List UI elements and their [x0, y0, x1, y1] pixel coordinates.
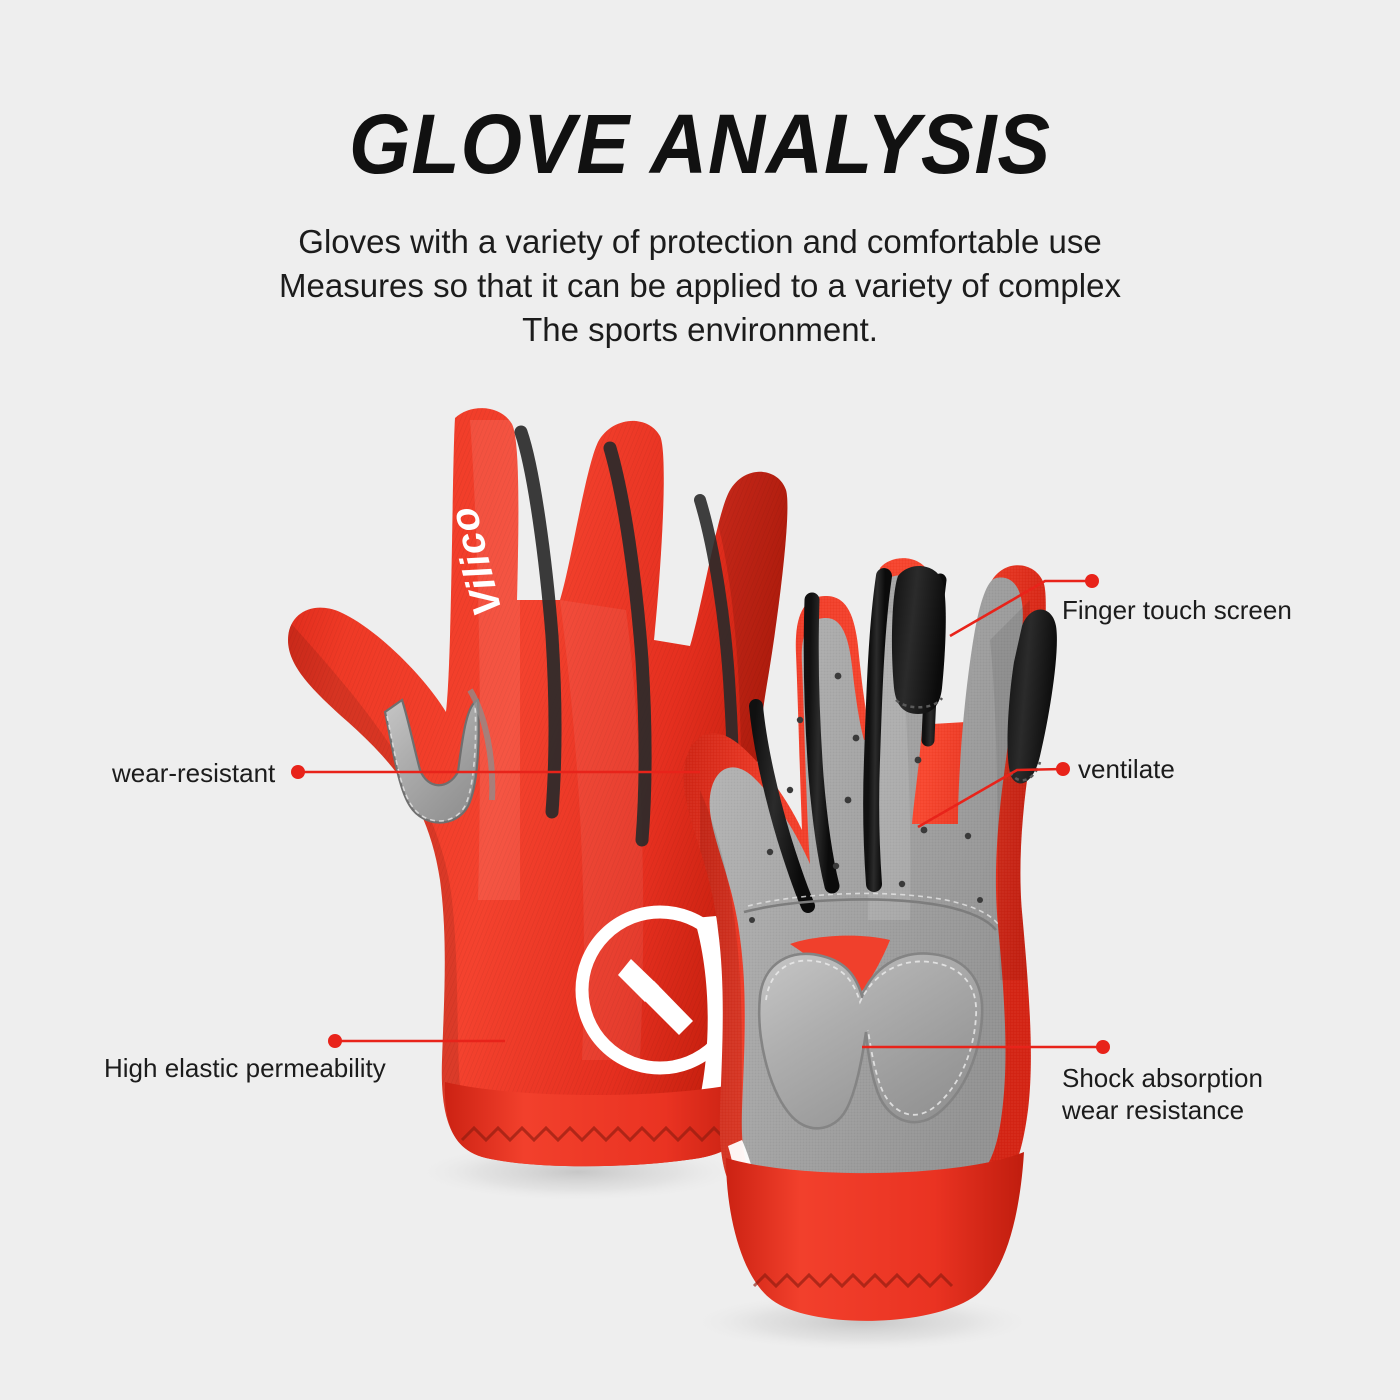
right-glove-cuff: [726, 1152, 1024, 1321]
leader-dot-ventilate: [1056, 762, 1070, 776]
infographic-canvas: GLOVE ANALYSIS Gloves with a variety of …: [0, 0, 1400, 1400]
callout-label-high-elastic-permeability: High elastic permeability: [104, 1052, 386, 1084]
callout-label-wear-resistant: wear-resistant: [112, 757, 275, 789]
callout-label-shock-absorption: Shock absorption wear resistance: [1062, 1062, 1263, 1126]
callout-shock-line-2: wear resistance: [1062, 1094, 1263, 1126]
callout-shock-line-1: Shock absorption: [1062, 1062, 1263, 1094]
leader-dot-wear: [291, 765, 305, 779]
leader-dot-finger-touch: [1085, 574, 1099, 588]
leader-dot-elastic: [328, 1034, 342, 1048]
leader-dot-shock: [1096, 1040, 1110, 1054]
callout-label-finger-touch-screen: Finger touch screen: [1062, 594, 1292, 626]
touchscreen-fingertip-patch: [892, 566, 946, 714]
glove-product-photo: Vilico: [0, 0, 1400, 1400]
callout-label-ventilate: ventilate: [1078, 753, 1175, 785]
